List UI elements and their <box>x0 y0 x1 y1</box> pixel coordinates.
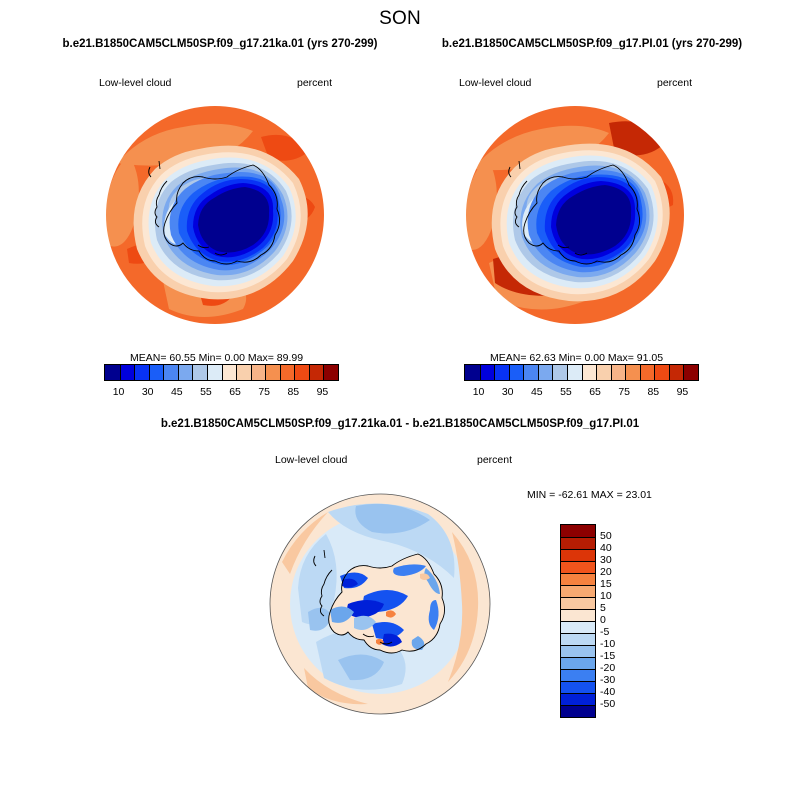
colorbar-left-cell <box>120 365 135 380</box>
colorbar-left-cell <box>323 365 338 380</box>
stats-right: MEAN= 62.63 Min= 0.00 Max= 91.05 <box>490 352 663 364</box>
colorbar-left-cell <box>251 365 266 380</box>
colorbar-right-cell <box>523 365 538 380</box>
panel-title-left: b.e21.B1850CAM5CLM50SP.f09_g17.21ka.01 (… <box>40 38 400 50</box>
colorbar-right-tick: 55 <box>560 386 572 398</box>
colorbar-diff-cell <box>561 669 595 681</box>
colorbar-right-cell <box>509 365 524 380</box>
main-title: SON <box>0 8 800 30</box>
colorbar-left-tick: 55 <box>200 386 212 398</box>
colorbar-diff-tick: -40 <box>600 686 615 698</box>
colorbar-right: 1030455565758595 <box>464 364 699 401</box>
colorbar-diff-cell <box>561 645 595 657</box>
colorbar-left-tick: 45 <box>171 386 183 398</box>
colorbar-diff-cell <box>561 537 595 549</box>
colorbar-left-cell <box>178 365 193 380</box>
panel-title-right: b.e21.B1850CAM5CLM50SP.f09_g17.PI.01 (yr… <box>412 38 772 50</box>
colorbar-diff-cell <box>561 693 595 705</box>
colorbar-left-cell <box>309 365 324 380</box>
colorbar-diff-tick: 30 <box>600 554 612 566</box>
colorbar-right-cell <box>640 365 655 380</box>
map-left <box>103 103 327 327</box>
units-label-left: percent <box>297 77 332 89</box>
colorbar-left: 1030455565758595 <box>104 364 339 401</box>
colorbar-right-cell <box>465 365 480 380</box>
colorbar-diff-cell <box>561 657 595 669</box>
colorbar-diff-cell <box>561 573 595 585</box>
colorbar-diff-tick: 20 <box>600 566 612 578</box>
colorbar-diff-cell <box>561 561 595 573</box>
colorbar-diff-tick: -20 <box>600 662 615 674</box>
colorbar-diff-tick: -10 <box>600 638 615 650</box>
colorbar-left-tick: 10 <box>113 386 125 398</box>
colorbar-left-cell <box>294 365 309 380</box>
colorbar-diff-cell <box>561 549 595 561</box>
colorbar-right-tick: 95 <box>677 386 689 398</box>
field-label-left: Low-level cloud <box>99 77 171 89</box>
colorbar-right-tick: 30 <box>502 386 514 398</box>
colorbar-left-cell <box>207 365 222 380</box>
colorbar-diff-cell <box>561 681 595 693</box>
colorbar-right-cell <box>480 365 495 380</box>
colorbar-left-cell <box>134 365 149 380</box>
colorbar-right-ticks: 1030455565758595 <box>464 385 697 401</box>
colorbar-diff-tick: 15 <box>600 578 612 590</box>
colorbar-right-tick: 10 <box>473 386 485 398</box>
colorbar-right-cell <box>538 365 553 380</box>
colorbar-diff-tick: 0 <box>600 614 606 626</box>
field-label-right: Low-level cloud <box>459 77 531 89</box>
colorbar-right-cell <box>669 365 684 380</box>
colorbar-diff-cell <box>561 621 595 633</box>
colorbar-right-cells <box>464 364 699 381</box>
colorbar-diff-tick: 10 <box>600 590 612 602</box>
colorbar-right-tick: 45 <box>531 386 543 398</box>
colorbar-right-cell <box>567 365 582 380</box>
colorbar-diff-tick: -30 <box>600 674 615 686</box>
colorbar-left-tick: 95 <box>317 386 329 398</box>
colorbar-left-tick: 85 <box>287 386 299 398</box>
colorbar-diff-tick: -15 <box>600 650 615 662</box>
colorbar-diff-cell <box>561 633 595 645</box>
units-label-diff: percent <box>477 454 512 466</box>
units-label-right: percent <box>657 77 692 89</box>
colorbar-left-cell <box>236 365 251 380</box>
map-diff <box>268 492 492 716</box>
colorbar-left-tick: 75 <box>258 386 270 398</box>
colorbar-right-cell <box>654 365 669 380</box>
colorbar-left-cell <box>105 365 120 380</box>
colorbar-left-tick: 65 <box>229 386 241 398</box>
colorbar-right-tick: 85 <box>647 386 659 398</box>
colorbar-diff-cell <box>561 597 595 609</box>
map-right <box>463 103 687 327</box>
field-label-diff: Low-level cloud <box>275 454 347 466</box>
colorbar-right-cell <box>625 365 640 380</box>
colorbar-diff-cell <box>561 525 595 537</box>
panel-title-diff: b.e21.B1850CAM5CLM50SP.f09_g17.21ka.01 -… <box>60 418 740 430</box>
colorbar-right-cell <box>683 365 698 380</box>
colorbar-left-cell <box>222 365 237 380</box>
colorbar-diff: 50403020151050-5-10-15-20-30-40-50 <box>560 524 800 718</box>
colorbar-left-cell <box>192 365 207 380</box>
colorbar-diff-tick: -50 <box>600 698 615 710</box>
colorbar-diff-cell <box>561 585 595 597</box>
colorbar-diff-cell <box>561 705 595 717</box>
colorbar-right-cell <box>552 365 567 380</box>
colorbar-left-ticks: 1030455565758595 <box>104 385 337 401</box>
colorbar-diff-cell <box>561 609 595 621</box>
colorbar-diff-tick: -5 <box>600 626 609 638</box>
colorbar-diff-cells <box>560 524 596 718</box>
colorbar-diff-tick: 40 <box>600 542 612 554</box>
stats-diff: MIN = -62.61 MAX = 23.01 <box>527 489 652 501</box>
colorbar-left-cell <box>265 365 280 380</box>
colorbar-diff-tick: 50 <box>600 530 612 542</box>
colorbar-left-cells <box>104 364 339 381</box>
colorbar-diff-tick: 5 <box>600 602 606 614</box>
colorbar-diff-ticks: 50403020151050-5-10-15-20-30-40-50 <box>600 524 640 716</box>
colorbar-right-cell <box>611 365 626 380</box>
colorbar-right-cell <box>596 365 611 380</box>
colorbar-right-cell <box>494 365 509 380</box>
colorbar-right-cell <box>582 365 597 380</box>
colorbar-right-tick: 65 <box>589 386 601 398</box>
stats-left: MEAN= 60.55 Min= 0.00 Max= 89.99 <box>130 352 303 364</box>
colorbar-left-cell <box>280 365 295 380</box>
colorbar-right-tick: 75 <box>618 386 630 398</box>
colorbar-left-tick: 30 <box>142 386 154 398</box>
colorbar-left-cell <box>163 365 178 380</box>
colorbar-left-cell <box>149 365 164 380</box>
